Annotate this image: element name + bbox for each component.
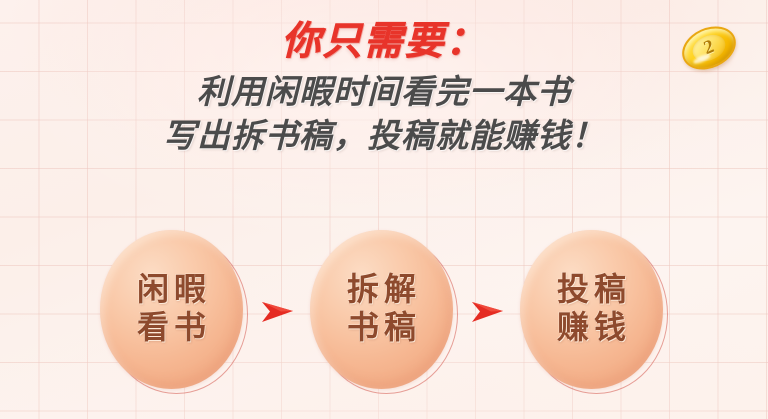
flow-arrow-1 (248, 297, 310, 327)
flow-arrow-2 (458, 297, 520, 327)
flow-step-2: 拆解 书稿 (310, 230, 458, 395)
flow-step-1: 闲暇 看书 (100, 230, 248, 395)
headline-line-1: 利用闲暇时间看完一本书 (0, 75, 768, 109)
flow-step-1-disc: 闲暇 看书 (100, 230, 243, 389)
headline-title: 你只需要： (0, 22, 768, 63)
arrow-right-icon (469, 297, 509, 327)
arrow-right-icon (259, 297, 299, 327)
promo-poster: 2 你只需要： 利用闲暇时间看完一本书 写出拆书稿，投稿就能赚钱！ 闲暇 看书 (0, 0, 768, 419)
flow-step-2-disc: 拆解 书稿 (310, 230, 453, 389)
flow-step-3-line-2: 赚钱 (552, 311, 631, 345)
flow-step-1-line-1: 闲暇 (132, 273, 211, 307)
headline-line-2: 写出拆书稿，投稿就能赚钱！ (0, 119, 768, 153)
headline-block: 你只需要： 利用闲暇时间看完一本书 写出拆书稿，投稿就能赚钱！ (0, 22, 768, 152)
flow-step-3-line-1: 投稿 (552, 273, 631, 307)
flow-step-1-line-2: 看书 (132, 311, 211, 345)
flow-step-3: 投稿 赚钱 (520, 230, 668, 395)
flow-step-3-disc: 投稿 赚钱 (520, 230, 663, 389)
process-flow: 闲暇 看书 拆解 书稿 投稿 (0, 222, 768, 402)
flow-step-2-line-2: 书稿 (342, 311, 421, 345)
flow-step-2-line-1: 拆解 (342, 273, 421, 307)
